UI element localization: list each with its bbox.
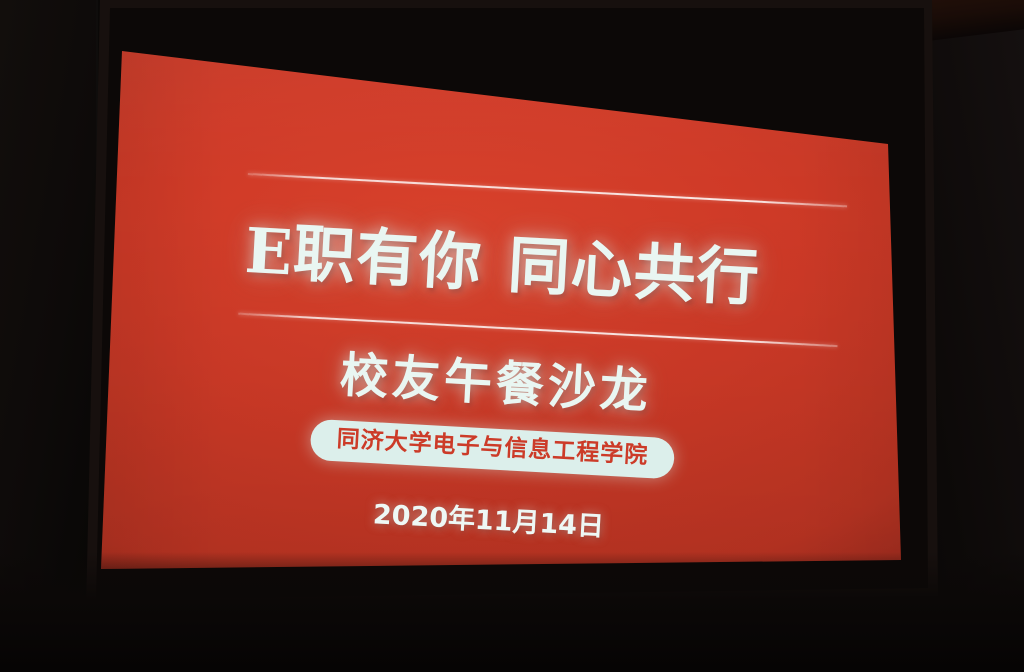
organization-badge: 同济大学电子与信息工程学院: [310, 419, 676, 480]
slide-main-title-part1: E职有你: [243, 214, 484, 300]
slide-main-title-part2: 同心共行: [506, 228, 762, 315]
title-word-gap: [481, 285, 507, 286]
slide-content: E职有你同心共行 校友午餐沙龙 同济大学电子与信息工程学院 2020年11月14…: [95, 58, 903, 605]
slide-main-title: E职有你同心共行: [110, 193, 896, 325]
auditorium-scene: E职有你同心共行 校友午餐沙龙 同济大学电子与信息工程学院 2020年11月14…: [0, 0, 1024, 672]
slide-date: 2020年11月14日: [97, 477, 880, 558]
wall-panel-bottom: [0, 552, 1024, 672]
divider-line-top: [248, 173, 847, 207]
